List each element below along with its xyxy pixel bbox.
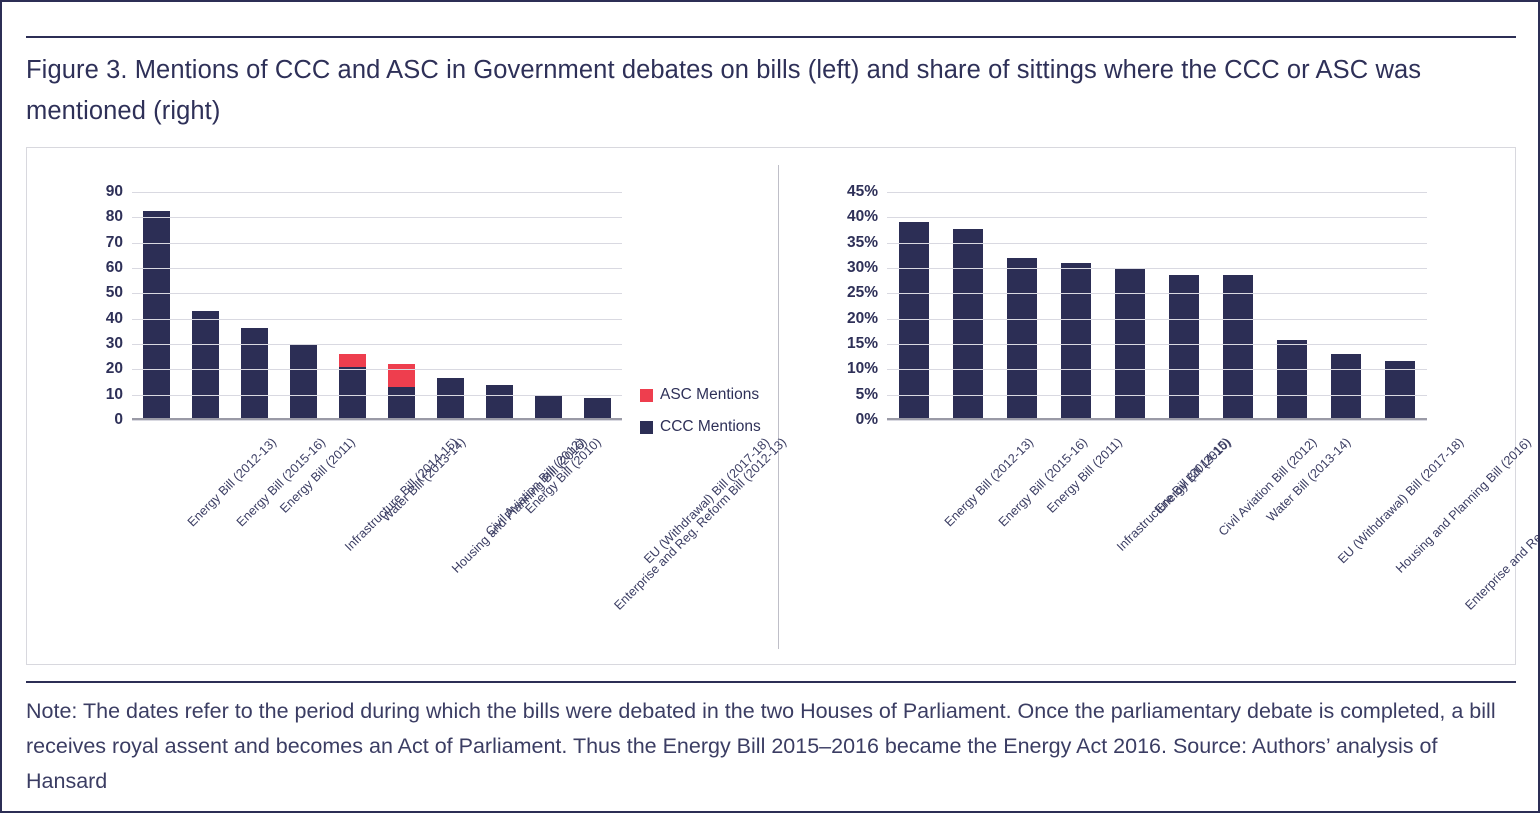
y-axis-tick-label: 10% [847, 360, 878, 378]
legend-label-ccc: CCC Mentions [660, 418, 761, 436]
y-axis-tick-label: 25% [847, 284, 878, 302]
bar[interactable] [437, 378, 464, 420]
bar-slot [230, 192, 279, 420]
gridline [887, 192, 1427, 193]
y-axis-tick-label: 20 [106, 360, 123, 378]
bar-segment [339, 354, 366, 367]
figure-note: Note: The dates refer to the period duri… [26, 694, 1504, 799]
bar-slot [1373, 192, 1427, 420]
bar-segment [339, 367, 366, 420]
gridline [132, 192, 622, 193]
bar-slot [1157, 192, 1211, 420]
legend-swatch-ccc-icon [640, 421, 653, 434]
bar-slot [1319, 192, 1373, 420]
bar-segment [192, 311, 219, 420]
bar-segment [290, 344, 317, 420]
bar-slot [1265, 192, 1319, 420]
bar-group-left [132, 192, 622, 420]
gridline [132, 395, 622, 396]
gridline [887, 319, 1427, 320]
y-axis-tick-label: 10 [106, 386, 123, 404]
bar[interactable] [1007, 258, 1037, 420]
y-axis-tick-label: 90 [106, 183, 123, 201]
bar-segment [1223, 275, 1253, 420]
y-axis-tick-label: 30 [106, 335, 123, 353]
x-axis-tick-label: Energy Bill (2012-13) [942, 435, 1036, 529]
gridline [132, 243, 622, 244]
bar-slot [573, 192, 622, 420]
bar[interactable] [339, 354, 366, 420]
bar-slot [1103, 192, 1157, 420]
legend-item-ccc: CCC Mentions [640, 418, 761, 436]
bar-slot [995, 192, 1049, 420]
y-axis-tick-label: 15% [847, 335, 878, 353]
bar[interactable] [486, 385, 513, 420]
plot-area-left: Energy Bill (2012-13)Energy Bill (2015-1… [132, 192, 622, 420]
bar-slot [426, 192, 475, 420]
bar[interactable] [899, 222, 929, 420]
bar[interactable] [1169, 275, 1199, 420]
bar-segment [899, 222, 929, 420]
gridline [132, 319, 622, 320]
x-axis-labels-left: Energy Bill (2012-13)Energy Bill (2015-1… [132, 420, 622, 620]
bar-segment [241, 328, 268, 420]
gridline [132, 217, 622, 218]
x-axis-tick-label: Energy Bill (2012-13) [184, 435, 278, 529]
bar-segment [486, 385, 513, 420]
x-axis-tick-label: Civil Aviation Bill (2012) [482, 435, 586, 539]
bar[interactable] [953, 229, 983, 420]
x-axis-labels-right: Energy Bill (2012-13)Energy Bill (2015-1… [887, 420, 1427, 620]
title-divider [26, 36, 1516, 38]
bar-slot [1049, 192, 1103, 420]
bar-segment [953, 229, 983, 420]
bar[interactable] [192, 311, 219, 420]
bar[interactable] [1277, 340, 1307, 420]
gridline [132, 293, 622, 294]
chart-right-share: Energy Bill (2012-13)Energy Bill (2015-1… [779, 148, 1517, 664]
x-axis-tick-label: EU (Withdrawal) Bill (2017-18) [1335, 435, 1466, 566]
chart-legend: ASC Mentions CCC Mentions [640, 386, 761, 450]
legend-swatch-asc-icon [640, 389, 653, 402]
y-axis-tick-label: 20% [847, 310, 878, 328]
bar-segment [1331, 354, 1361, 420]
bar-segment [535, 395, 562, 420]
bar[interactable] [388, 364, 415, 420]
bar-segment [1277, 340, 1307, 420]
y-axis-tick-label: 70 [106, 234, 123, 252]
bar[interactable] [584, 398, 611, 420]
plot-area-right: Energy Bill (2012-13)Energy Bill (2015-1… [887, 192, 1427, 420]
gridline [132, 420, 622, 421]
y-axis-tick-label: 35% [847, 234, 878, 252]
y-axis-tick-label: 45% [847, 183, 878, 201]
bar-segment [1169, 275, 1199, 420]
bar[interactable] [1223, 275, 1253, 420]
figure-title: Figure 3. Mentions of CCC and ASC in Gov… [26, 50, 1518, 133]
gridline [887, 369, 1427, 370]
bar-slot [328, 192, 377, 420]
y-axis-tick-label: 0% [856, 411, 878, 429]
y-axis-tick-label: 40% [847, 208, 878, 226]
x-axis-tick-label: Energy Bill (2010) [1153, 435, 1234, 516]
gridline [887, 243, 1427, 244]
gridline [887, 293, 1427, 294]
charts-panel: Energy Bill (2012-13)Energy Bill (2015-1… [26, 147, 1516, 665]
chart-left-mentions: Energy Bill (2012-13)Energy Bill (2015-1… [27, 148, 778, 664]
y-axis-tick-label: 50 [106, 284, 123, 302]
bar-segment [584, 398, 611, 420]
bar-slot [887, 192, 941, 420]
x-axis-tick-label: EU (Withdrawal) Bill (2017-18) [641, 435, 772, 566]
bar-segment [388, 364, 415, 387]
bar-slot [1211, 192, 1265, 420]
bar-segment [1007, 258, 1037, 420]
legend-label-asc: ASC Mentions [660, 386, 759, 404]
figure-container: Figure 3. Mentions of CCC and ASC in Gov… [0, 0, 1540, 813]
bar[interactable] [290, 344, 317, 420]
bar-slot [524, 192, 573, 420]
bar-slot [941, 192, 995, 420]
legend-item-asc: ASC Mentions [640, 386, 761, 404]
gridline [887, 420, 1427, 421]
note-divider [26, 681, 1516, 683]
gridline [887, 268, 1427, 269]
x-axis-tick-label: Water Bill (2013-14) [378, 435, 467, 524]
bar[interactable] [535, 395, 562, 420]
bar-segment [388, 387, 415, 420]
x-axis-tick-label: Enterprise and Reg. Reform Bill (2012-13… [611, 435, 789, 613]
bar-slot [181, 192, 230, 420]
y-axis-tick-label: 5% [856, 386, 878, 404]
bar-segment [1061, 263, 1091, 420]
bar-slot [377, 192, 426, 420]
bar[interactable] [1331, 354, 1361, 420]
bar-slot [279, 192, 328, 420]
y-axis-tick-label: 60 [106, 259, 123, 277]
bar[interactable] [1061, 263, 1091, 420]
gridline [887, 344, 1427, 345]
gridline [132, 344, 622, 345]
y-axis-tick-label: 30% [847, 259, 878, 277]
y-axis-tick-label: 0 [114, 411, 123, 429]
gridline [887, 217, 1427, 218]
bar-slot [475, 192, 524, 420]
bar-slot [132, 192, 181, 420]
bar[interactable] [241, 328, 268, 420]
gridline [887, 395, 1427, 396]
gridline [132, 369, 622, 370]
bar-segment [437, 378, 464, 420]
bar-group-right [887, 192, 1427, 420]
y-axis-tick-label: 80 [106, 208, 123, 226]
gridline [132, 268, 622, 269]
y-axis-tick-label: 40 [106, 310, 123, 328]
